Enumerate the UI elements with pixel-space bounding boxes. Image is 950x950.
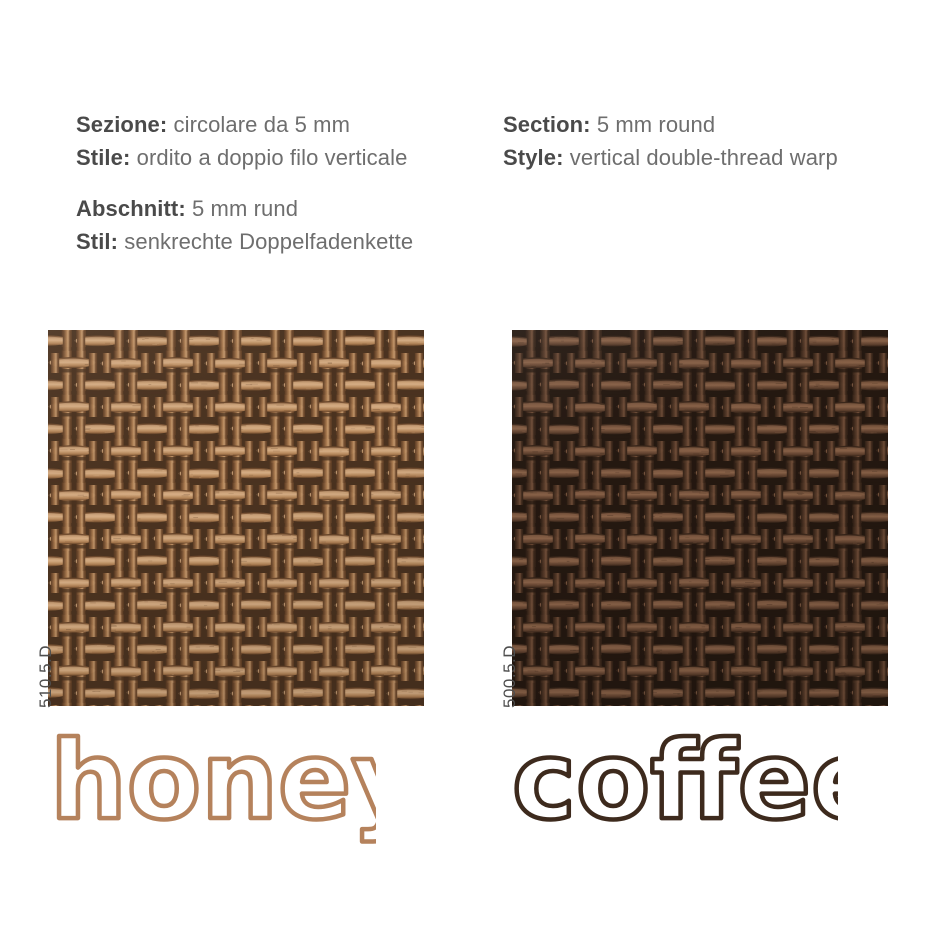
wordmark-honey: honey [46,726,376,846]
spec-value: circolare da 5 mm [173,112,350,137]
spec-block-italian: Sezione: circolare da 5 mm Stile: ordito… [76,110,407,175]
wordmark-coffee-label: coffee [512,726,838,844]
spec-value: ordito a doppio filo verticale [137,145,408,170]
spec-line: Sezione: circolare da 5 mm [76,110,407,143]
spec-line: Stil: senkrechte Doppelfadenkette [76,227,413,260]
spec-key: Style: [503,145,564,170]
spec-value: 5 mm rund [192,196,298,221]
spec-key: Stile: [76,145,130,170]
spec-value: vertical double-thread warp [570,145,838,170]
swatch-coffee [512,330,888,706]
wordmark-honey-label: honey [50,726,376,844]
weave-texture-honey [48,330,424,706]
swatch-code-coffee: 500.5.D [500,645,520,708]
spec-key: Section: [503,112,591,137]
spec-value: senkrechte Doppelfadenkette [124,229,413,254]
spec-block-german: Abschnitt: 5 mm rund Stil: senkrechte Do… [76,194,413,259]
spec-line: Style: vertical double-thread warp [503,143,838,176]
spec-block-english: Section: 5 mm round Style: vertical doub… [503,110,838,175]
spec-line: Section: 5 mm round [503,110,838,143]
spec-line: Abschnitt: 5 mm rund [76,194,413,227]
spec-line: Stile: ordito a doppio filo verticale [76,143,407,176]
swatch-code-honey: 510.5.D [36,645,56,708]
spec-key: Abschnitt: [76,196,186,221]
wordmark-coffee: coffee [508,726,838,846]
spec-value: 5 mm round [597,112,715,137]
spec-key: Stil: [76,229,118,254]
swatch-honey [48,330,424,706]
weave-texture-coffee [512,330,888,706]
spec-key: Sezione: [76,112,167,137]
